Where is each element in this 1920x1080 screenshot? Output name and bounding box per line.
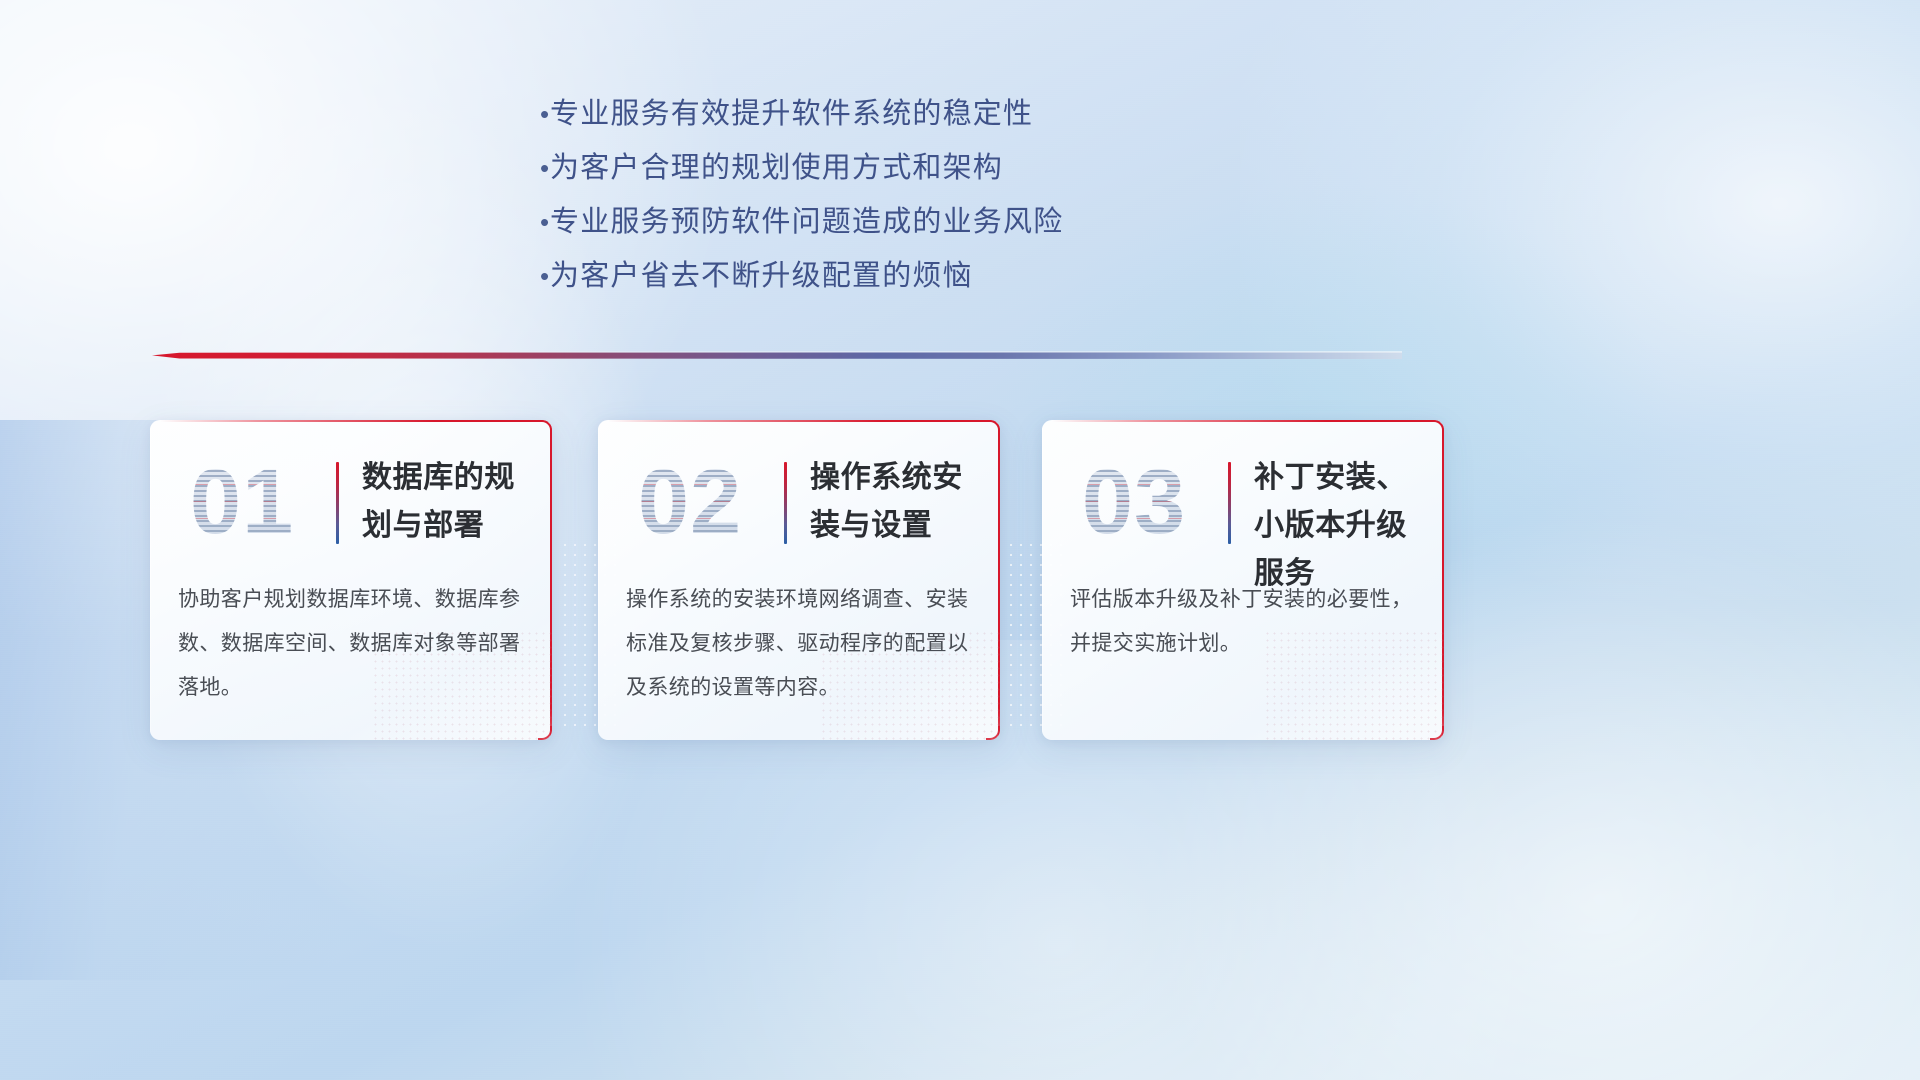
card-title: 数据库的规划与部署 (362, 454, 536, 550)
card-title: 补丁安装、小版本升级服务 (1254, 454, 1428, 598)
bullet-dot-icon: • (520, 155, 550, 181)
card-number-watermark: 03 (1064, 450, 1204, 554)
bullet-dot-icon: • (520, 263, 550, 289)
card-header: 03 03 补丁安装、小版本升级服务 (1042, 436, 1444, 560)
card-number-watermark: 02 (620, 450, 760, 554)
service-card-03[interactable]: 03 03 补丁安装、小版本升级服务 评估版本升级及补丁安装的必要性，并提交实施… (1042, 420, 1444, 740)
slide-canvas: • 专业服务有效提升软件系统的稳定性 • 为客户合理的规划使用方式和架构 • 专… (0, 0, 1920, 1080)
list-item: • 专业服务有效提升软件系统的稳定性 (520, 88, 1420, 140)
accent-divider-bar (152, 352, 1402, 359)
bullet-dot-icon: • (520, 209, 550, 235)
card-title-divider (1228, 462, 1231, 544)
card-title-divider (336, 462, 339, 544)
card-top-accent-border (1052, 420, 1444, 422)
card-title: 操作系统安装与设置 (810, 454, 984, 550)
bullet-text: 专业服务预防软件问题造成的业务风险 (550, 196, 1063, 248)
service-card-02[interactable]: 02 02 操作系统安装与设置 操作系统的安装环境网络调查、安装标准及复核步骤、… (598, 420, 1000, 740)
service-card-01[interactable]: 01 01 数据库的规划与部署 协助客户规划数据库环境、数据库参数、数据库空间、… (150, 420, 552, 740)
card-top-accent-border (160, 420, 552, 422)
accent-divider-highlight (152, 351, 1402, 354)
card-header: 02 02 操作系统安装与设置 (598, 436, 1000, 560)
bullet-text: 专业服务有效提升软件系统的稳定性 (550, 88, 1033, 140)
card-description: 协助客户规划数据库环境、数据库参数、数据库空间、数据库对象等部署落地。 (178, 578, 528, 710)
accent-divider-line (152, 348, 1402, 364)
list-item: • 为客户省去不断升级配置的烦恼 (520, 250, 1420, 302)
bullet-dot-icon: • (520, 101, 550, 127)
list-item: • 为客户合理的规划使用方式和架构 (520, 142, 1420, 194)
benefits-bullet-list: • 专业服务有效提升软件系统的稳定性 • 为客户合理的规划使用方式和架构 • 专… (520, 88, 1420, 304)
card-description: 操作系统的安装环境网络调查、安装标准及复核步骤、驱动程序的配置以及系统的设置等内… (626, 578, 976, 710)
card-number-watermark: 01 (172, 450, 312, 554)
card-description: 评估版本升级及补丁安装的必要性，并提交实施计划。 (1070, 578, 1420, 666)
list-item: • 专业服务预防软件问题造成的业务风险 (520, 196, 1420, 248)
service-card-group: 01 01 数据库的规划与部署 协助客户规划数据库环境、数据库参数、数据库空间、… (0, 420, 1920, 760)
bullet-text: 为客户合理的规划使用方式和架构 (550, 142, 1003, 194)
card-title-divider (784, 462, 787, 544)
bullet-text: 为客户省去不断升级配置的烦恼 (550, 250, 973, 302)
card-top-accent-border (608, 420, 1000, 422)
card-header: 01 01 数据库的规划与部署 (150, 436, 552, 560)
